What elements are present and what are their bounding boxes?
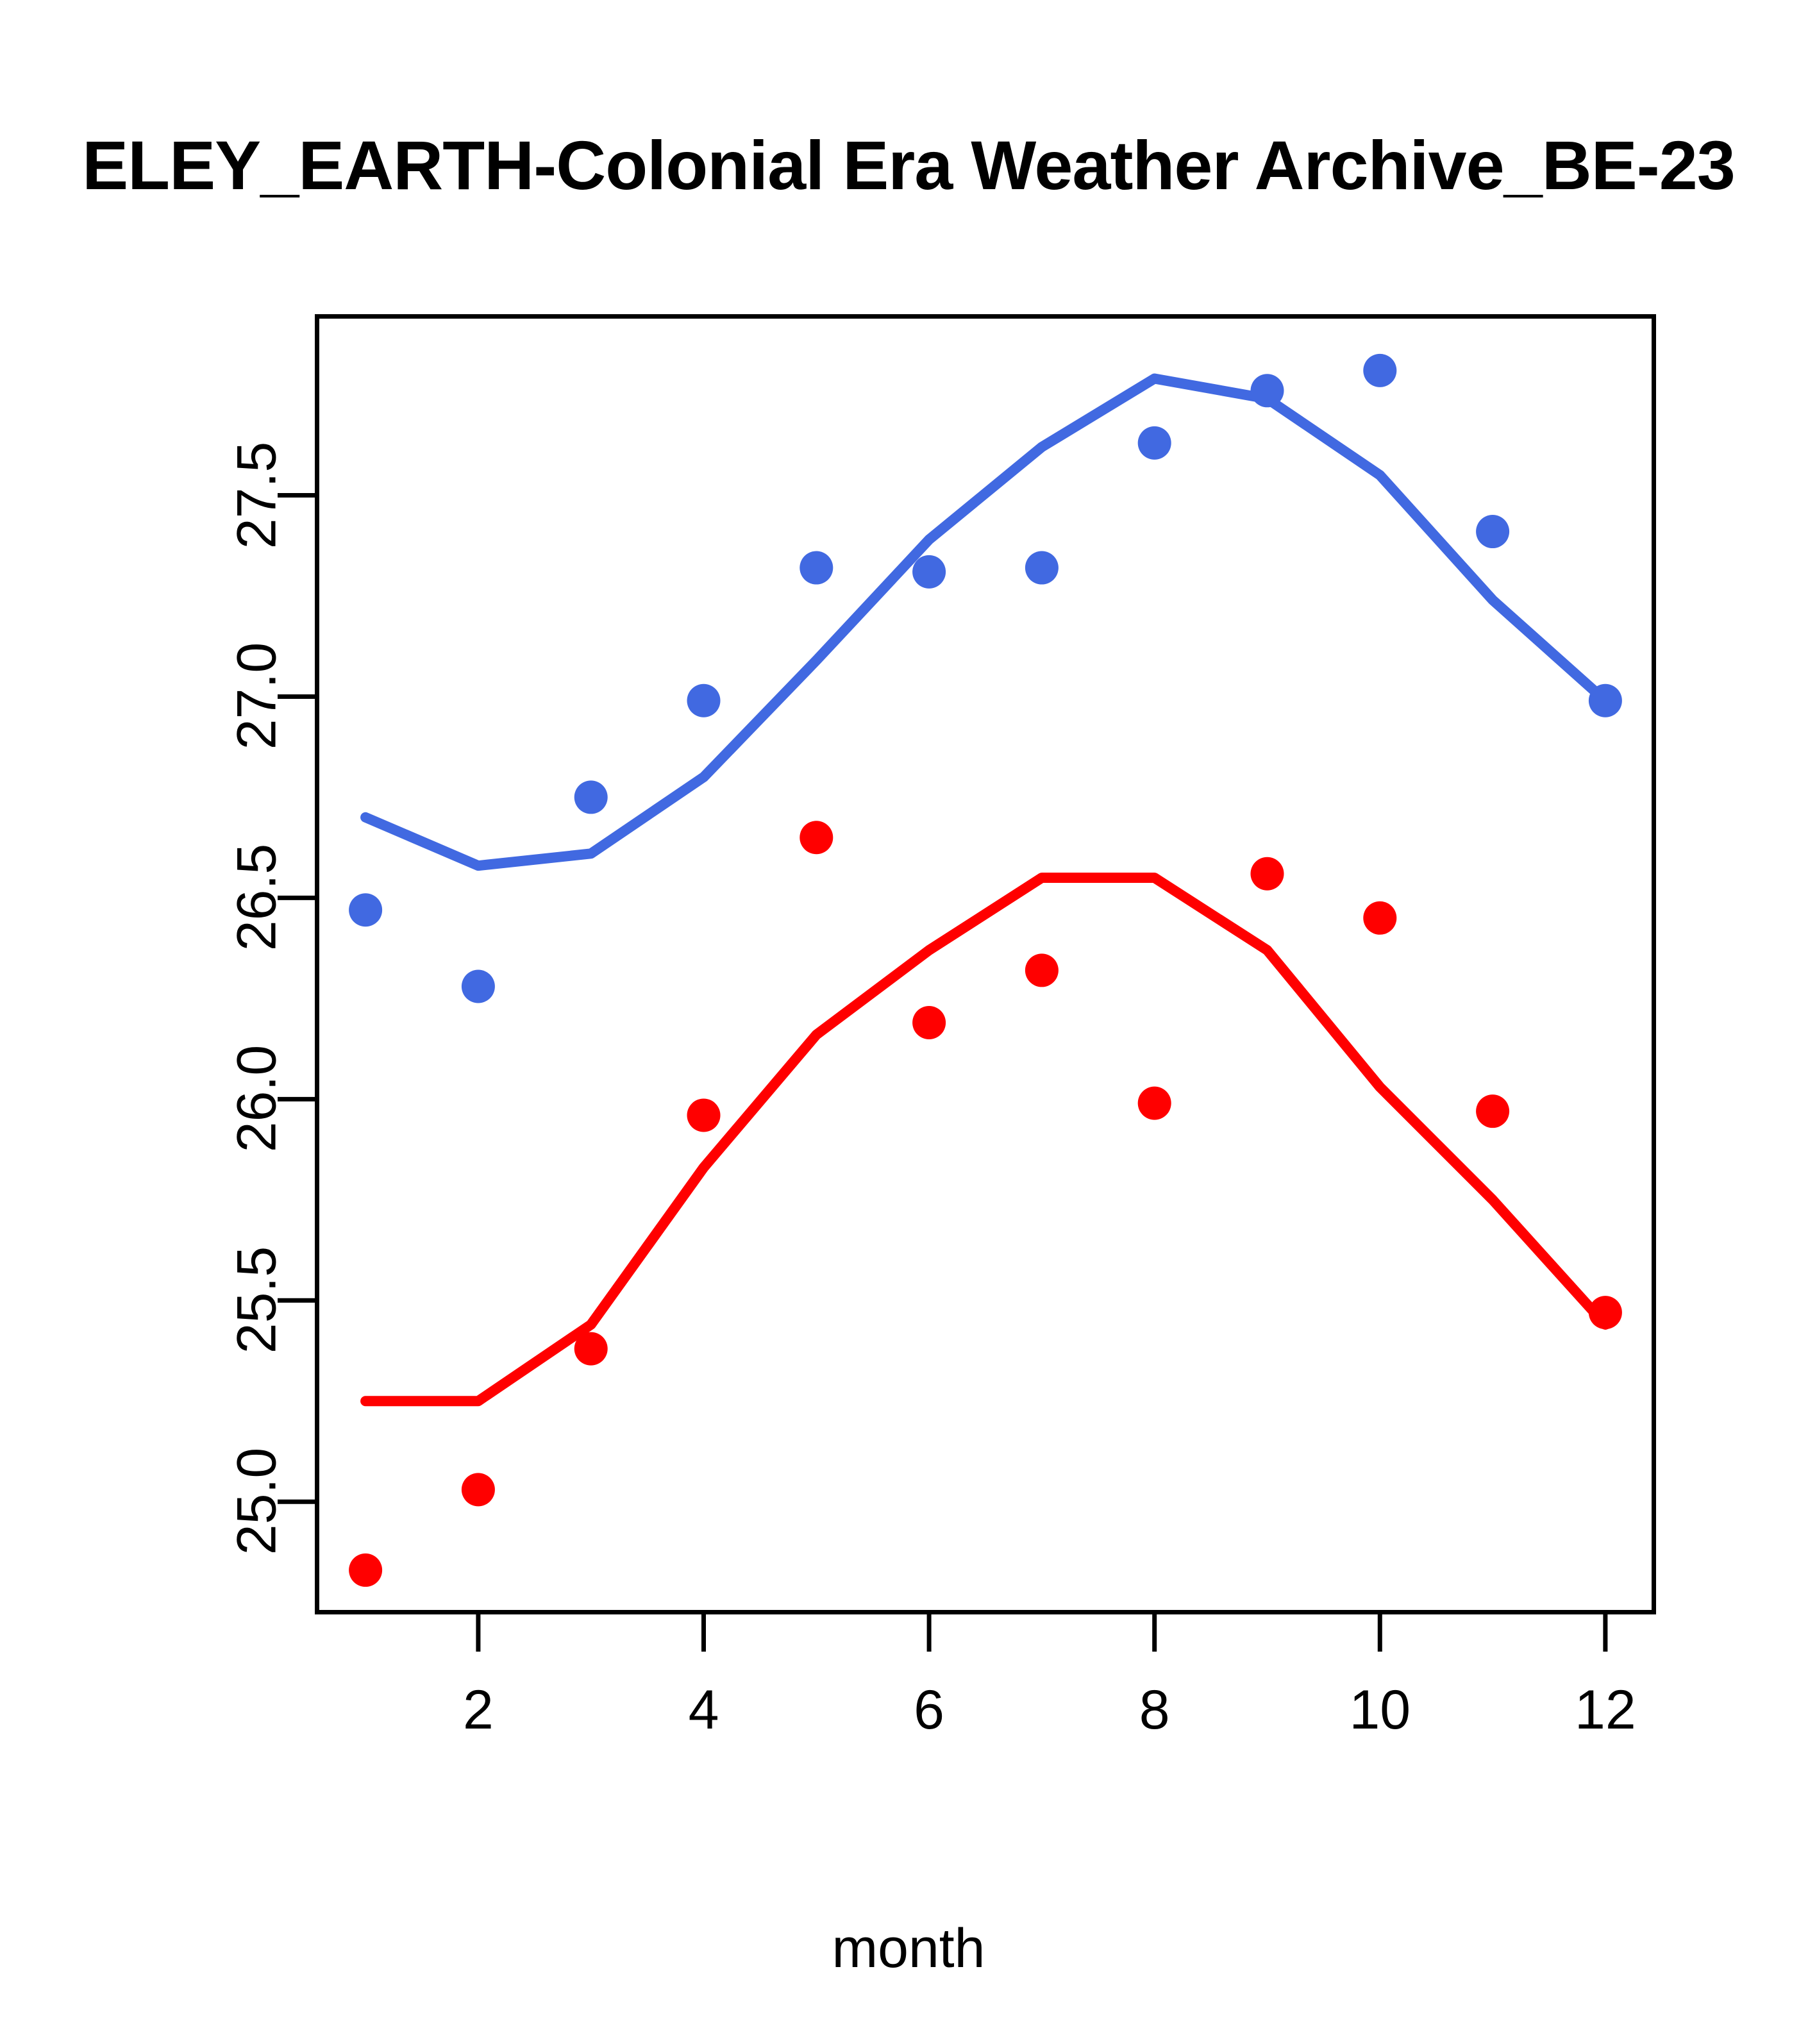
y-axis-tick-label: 25.5 bbox=[226, 1204, 289, 1396]
x-axis-tick-label: 10 bbox=[1349, 1679, 1411, 1742]
y-axis-tick-label: 26.0 bbox=[226, 1003, 289, 1195]
plot-area bbox=[315, 314, 1656, 1614]
chart-title-container: ELEY_EARTH-Colonial Era Weather Archive_… bbox=[0, 108, 1817, 223]
x-axis-tick-label: 12 bbox=[1575, 1679, 1636, 1742]
y-axis-tick-label: 27.0 bbox=[226, 600, 289, 792]
y-axis-tick-label: 27.5 bbox=[226, 399, 289, 591]
y-axis-tick-label: 25.0 bbox=[226, 1405, 289, 1598]
x-axis-tick-label: 6 bbox=[914, 1679, 944, 1742]
chart-canvas: ELEY_EARTH-Colonial Era Weather Archive_… bbox=[0, 0, 1817, 2044]
x-axis-tick-label: 4 bbox=[689, 1679, 719, 1742]
x-axis-tick-label: 8 bbox=[1139, 1679, 1170, 1742]
x-axis-title: month bbox=[0, 1917, 1817, 1981]
x-axis-tick-label: 2 bbox=[463, 1679, 494, 1742]
y-axis-tick-label: 26.5 bbox=[226, 801, 289, 994]
page-title: ELEY_EARTH-Colonial Era Weather Archive_… bbox=[82, 108, 1735, 223]
